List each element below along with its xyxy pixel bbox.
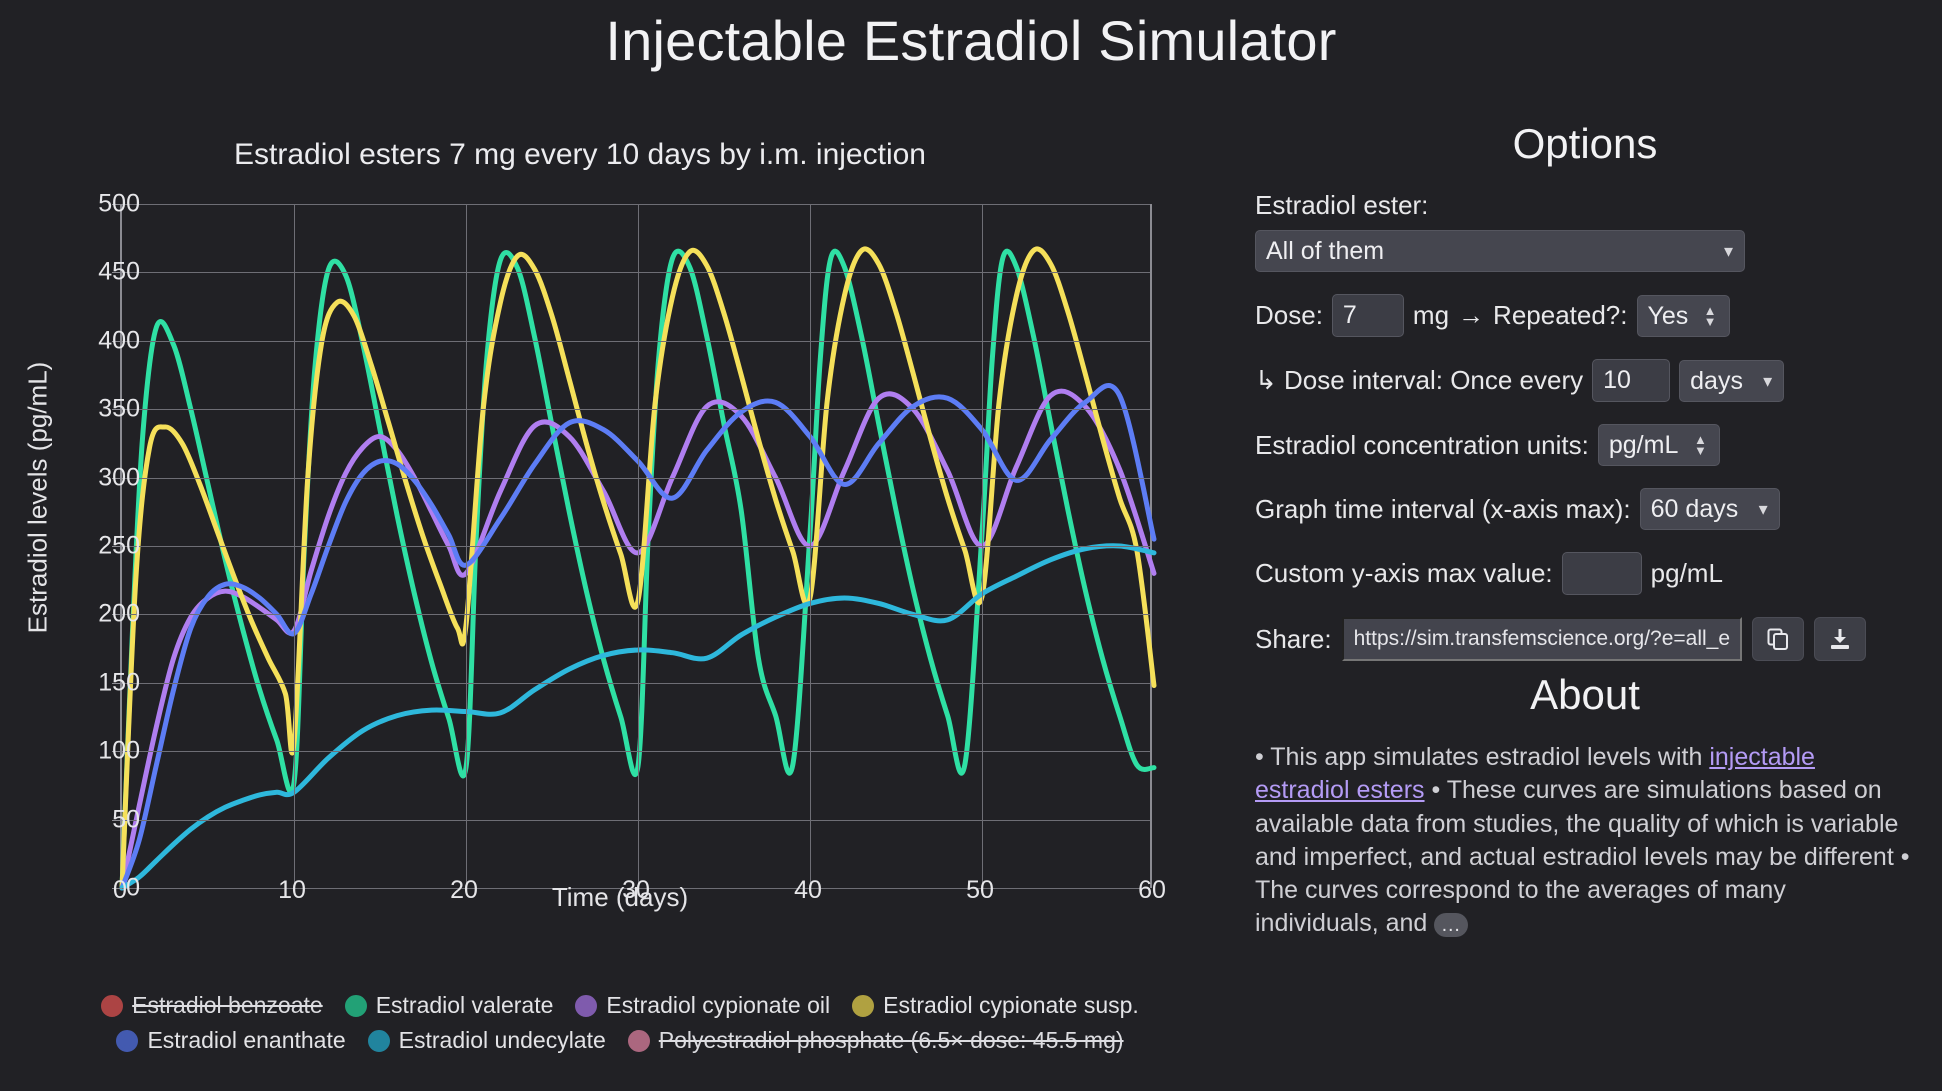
legend-item[interactable]: Polyestradiol phosphate (6.5× dose: 45.5…: [628, 1027, 1124, 1054]
app-root: Injectable Estradiol Simulator Estradiol…: [0, 0, 1942, 1091]
interval-unit-select[interactable]: days: [1679, 360, 1784, 402]
dose-unit: mg: [1413, 300, 1449, 331]
y-axis-tick-label: 500: [20, 190, 140, 219]
ester-select[interactable]: All of them: [1255, 230, 1745, 272]
units-select-wrapper[interactable]: pg/mL ▲▼: [1598, 424, 1720, 466]
dose-input[interactable]: [1332, 294, 1404, 337]
legend-item-label: Polyestradiol phosphate (6.5× dose: 45.5…: [659, 1027, 1124, 1054]
legend-item-label: Estradiol valerate: [376, 992, 554, 1019]
gridline-horizontal: [122, 614, 1150, 615]
ymax-label: Custom y-axis max value:: [1255, 558, 1553, 589]
y-axis-tick-label: 450: [20, 258, 140, 287]
gridline-horizontal: [122, 204, 1150, 205]
y-axis-tick-label: 50: [20, 805, 140, 834]
interval-unit-select-wrapper[interactable]: days ▾: [1679, 360, 1784, 402]
x-axis-tick-label: 60: [1138, 876, 1166, 905]
x-axis-label: Time (days): [120, 882, 1120, 913]
options-heading: Options: [1255, 120, 1915, 168]
y-axis-tick-label: 400: [20, 326, 140, 355]
dose-label: Dose:: [1255, 300, 1323, 331]
repeated-label: Repeated?:: [1493, 300, 1627, 331]
gridline-horizontal: [122, 751, 1150, 752]
legend-color-dot: [116, 1030, 138, 1052]
legend-item-label: Estradiol benzoate: [132, 992, 323, 1019]
option-row-ester: Estradiol ester: All of them ▾: [1255, 190, 1915, 272]
options-panel: Options Estradiol ester: All of them ▾ D…: [1255, 120, 1915, 941]
copy-icon: [1765, 626, 1791, 652]
download-button[interactable]: [1814, 617, 1866, 661]
gridline-horizontal: [122, 272, 1150, 273]
legend-item-label: Estradiol cypionate susp.: [883, 992, 1139, 1019]
share-label: Share:: [1255, 624, 1332, 655]
about-expand-button[interactable]: …: [1434, 913, 1468, 937]
y-axis-tick-label: 200: [20, 600, 140, 629]
repeated-select-wrapper[interactable]: Yes ▲▼: [1637, 295, 1730, 337]
gridline-vertical: [810, 204, 811, 888]
option-row-interval: ↳ Dose interval: Once every days ▾: [1255, 359, 1915, 402]
legend-color-dot: [852, 995, 874, 1017]
y-axis-tick-label: 150: [20, 668, 140, 697]
legend-item[interactable]: Estradiol benzoate: [101, 992, 323, 1019]
legend-item-label: Estradiol cypionate oil: [606, 992, 830, 1019]
repeated-select[interactable]: Yes: [1637, 295, 1730, 337]
gridline-horizontal: [122, 341, 1150, 342]
interval-prefix: ↳ Dose interval: Once every: [1255, 365, 1583, 396]
chart-panel: Estradiol esters 7 mg every 10 days by i…: [0, 120, 1180, 1070]
units-label: Estradiol concentration units:: [1255, 430, 1589, 461]
y-axis-tick-label: 100: [20, 737, 140, 766]
option-row-units: Estradiol concentration units: pg/mL ▲▼: [1255, 424, 1915, 466]
time-interval-label: Graph time interval (x-axis max):: [1255, 494, 1631, 525]
legend-row: Estradiol enanthateEstradiol undecylateP…: [80, 1027, 1160, 1054]
time-interval-select[interactable]: 60 days: [1640, 488, 1780, 530]
time-interval-select-wrapper[interactable]: 60 days ▾: [1640, 488, 1780, 530]
chart-title: Estradiol esters 7 mg every 10 days by i…: [60, 138, 1100, 172]
ymax-input[interactable]: [1562, 552, 1642, 595]
share-url-input[interactable]: [1342, 617, 1742, 661]
legend-row: Estradiol benzoateEstradiol valerateEstr…: [80, 992, 1160, 1019]
legend-item-label: Estradiol undecylate: [399, 1027, 606, 1054]
gridline-horizontal: [122, 546, 1150, 547]
chart-legend: Estradiol benzoateEstradiol valerateEstr…: [80, 992, 1160, 1062]
units-select[interactable]: pg/mL: [1598, 424, 1720, 466]
y-axis-tick-label: 250: [20, 532, 140, 561]
legend-color-dot: [101, 995, 123, 1017]
legend-color-dot: [628, 1030, 650, 1052]
gridline-horizontal: [122, 409, 1150, 410]
ester-select-wrapper[interactable]: All of them ▾: [1255, 230, 1745, 272]
ymax-unit: pg/mL: [1651, 558, 1723, 589]
legend-item[interactable]: Estradiol undecylate: [368, 1027, 606, 1054]
about-text-part1: • This app simulates estradiol levels wi…: [1255, 743, 1709, 771]
gridline-vertical: [466, 204, 467, 888]
gridline-vertical: [982, 204, 983, 888]
option-row-share: Share:: [1255, 617, 1915, 661]
gridline-horizontal: [122, 820, 1150, 821]
legend-item-label: Estradiol enanthate: [147, 1027, 345, 1054]
legend-item[interactable]: Estradiol enanthate: [116, 1027, 345, 1054]
legend-item[interactable]: Estradiol valerate: [345, 992, 554, 1019]
legend-color-dot: [368, 1030, 390, 1052]
about-heading: About: [1255, 671, 1915, 719]
option-row-dose: Dose: mg → Repeated?: Yes ▲▼: [1255, 294, 1915, 337]
copy-button[interactable]: [1752, 617, 1804, 661]
gridline-vertical: [638, 204, 639, 888]
download-icon: [1827, 626, 1853, 652]
arrow-icon: →: [1458, 300, 1484, 331]
gridline-vertical: [294, 204, 295, 888]
interval-input[interactable]: [1592, 359, 1670, 402]
legend-item[interactable]: Estradiol cypionate susp.: [852, 992, 1139, 1019]
option-row-time-interval: Graph time interval (x-axis max): 60 day…: [1255, 488, 1915, 530]
legend-color-dot: [345, 995, 367, 1017]
y-axis-tick-label: 350: [20, 395, 140, 424]
option-row-ymax: Custom y-axis max value: pg/mL: [1255, 552, 1915, 595]
legend-item[interactable]: Estradiol cypionate oil: [575, 992, 830, 1019]
gridline-horizontal: [122, 478, 1150, 479]
about-text: • This app simulates estradiol levels wi…: [1255, 741, 1915, 941]
legend-color-dot: [575, 995, 597, 1017]
gridline-horizontal: [122, 683, 1150, 684]
plot-wrapper: Estradiol levels (pg/mL) 050100150200250…: [0, 182, 1180, 822]
y-axis-tick-label: 300: [20, 463, 140, 492]
plot-area[interactable]: [120, 204, 1152, 888]
page-title: Injectable Estradiol Simulator: [0, 8, 1942, 73]
ester-label: Estradiol ester:: [1255, 190, 1428, 221]
